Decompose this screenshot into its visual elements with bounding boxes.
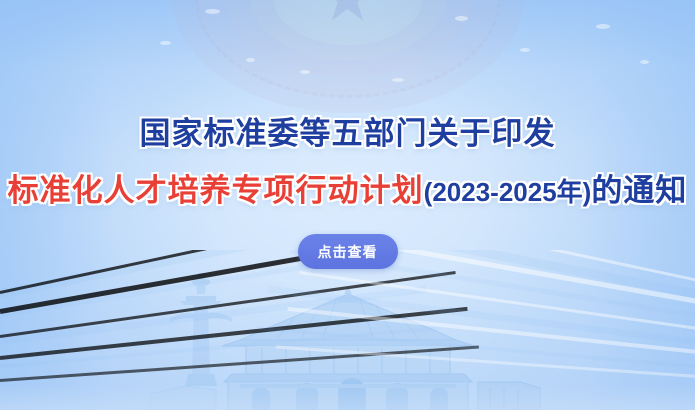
banner-title-plan-name: 标准化人才培养专项行动计划	[8, 173, 424, 208]
banner-title-year-range: (2023-2025年)	[424, 177, 592, 207]
banner-title-line-2: 标准化人才培养专项行动计划(2023-2025年)的通知	[8, 175, 688, 206]
banner-title-suffix: 的通知	[591, 173, 687, 208]
banner-title-line-1: 国家标准委等五部门关于印发	[140, 118, 556, 149]
promo-banner: 国家标准委等五部门关于印发 标准化人才培养专项行动计划(2023-2025年)的…	[0, 0, 695, 410]
click-to-view-button[interactable]: 点击查看	[298, 234, 398, 269]
banner-content: 国家标准委等五部门关于印发 标准化人才培养专项行动计划(2023-2025年)的…	[0, 0, 695, 410]
